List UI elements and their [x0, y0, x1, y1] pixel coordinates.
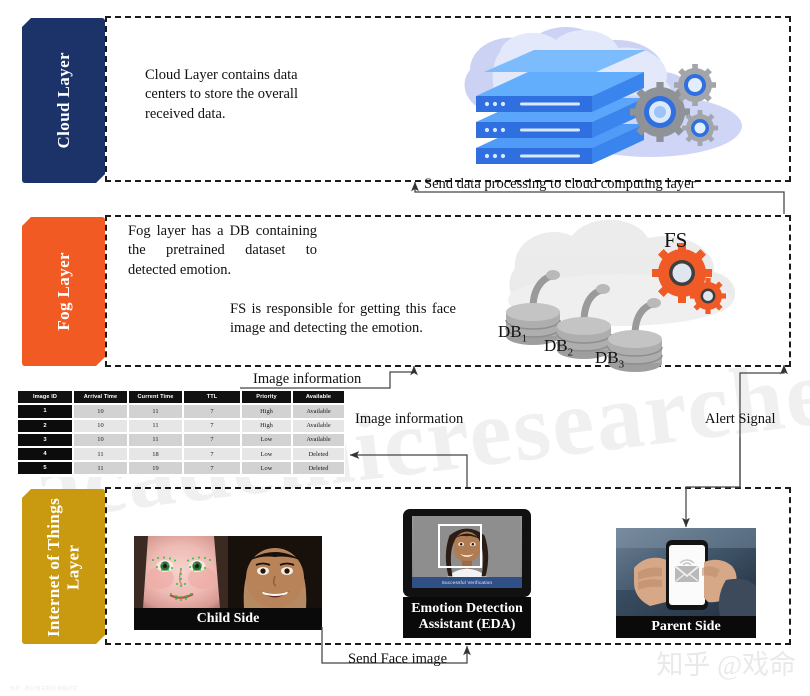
fog-layer-paragraph: Fog layer has a DB containing the pretra… — [128, 222, 317, 280]
cloud-layer-tab[interactable]: Cloud Layer — [22, 18, 105, 183]
child-side-card[interactable]: Child Side — [134, 536, 322, 630]
iot-layer-label: Internet of Things Layer — [44, 493, 83, 641]
child-face-landmarks-photo — [134, 536, 228, 608]
eda-card[interactable]: Successful Verification Emotion Detectio… — [403, 509, 531, 638]
cloud-layer-label: Cloud Layer — [54, 52, 74, 149]
eda-tablet: Successful Verification — [403, 509, 531, 597]
connector-label-alert-signal: Alert Signal — [705, 411, 775, 428]
child-side-caption: Child Side — [134, 608, 322, 630]
parent-side-caption: Parent Side — [616, 616, 756, 638]
connector-label-cloud-up: Send data processing to cloud computing … — [424, 176, 695, 193]
col-current-time: Current Time — [128, 391, 183, 404]
db1-label: DB1 — [498, 322, 527, 344]
cloud-layer-paragraph: Cloud Layer contains data centers to sto… — [145, 66, 321, 124]
table-row: 411187LowDeleted — [18, 447, 344, 461]
fog-fs-paragraph: FS is responsible for getting this face … — [230, 300, 456, 339]
image-information-table: Image ID Arrival Time Current Time TTL P… — [18, 391, 344, 476]
verification-status-bar: Successful Verification — [412, 577, 522, 588]
table-header-row: Image ID Arrival Time Current Time TTL P… — [18, 391, 344, 404]
connector-label-image-info-mid: Image information — [355, 411, 463, 428]
col-priority: Priority — [241, 391, 292, 404]
eda-caption-line1: Emotion Detection — [405, 601, 529, 617]
table-row: 511197LowDeleted — [18, 461, 344, 475]
zhihu-watermark: 知乎 @戏命 — [656, 643, 796, 682]
db2-label: DB2 — [544, 336, 573, 358]
diagram-canvas: academicresearcher.com Cloud Layer Fog L… — [0, 0, 810, 696]
table-row: 210117HighAvailable — [18, 419, 344, 433]
fog-layer-tab[interactable]: Fog Layer — [22, 217, 105, 366]
parent-phone-photo — [616, 528, 756, 616]
col-available: Available — [292, 391, 344, 404]
table-row: 310117LowAvailable — [18, 433, 344, 447]
face-detection-box — [438, 524, 482, 568]
connector-label-send-face: Send Face image — [348, 651, 447, 668]
iot-layer-tab[interactable]: Internet of Things Layer — [22, 489, 105, 644]
db3-label: DB3 — [595, 348, 624, 370]
eda-caption-line2: Assistant (EDA) — [405, 617, 529, 633]
tiny-footnote: 知乎 · 搜以/有关新闻 转载必究 — [10, 685, 77, 692]
child-photos — [134, 536, 322, 608]
col-ttl: TTL — [183, 391, 241, 404]
eda-screen: Successful Verification — [412, 516, 522, 588]
fs-label: FS — [664, 228, 687, 253]
child-smiling-photo — [228, 536, 322, 608]
parent-side-card[interactable]: Parent Side — [616, 528, 756, 638]
connector-label-image-info-top: Image information — [253, 371, 361, 388]
col-arrival-time: Arrival Time — [73, 391, 128, 404]
fog-layer-label: Fog Layer — [54, 252, 74, 331]
col-image-id: Image ID — [18, 391, 73, 404]
eda-caption: Emotion Detection Assistant (EDA) — [403, 597, 531, 638]
table-row: 110117HighAvailable — [18, 404, 344, 418]
